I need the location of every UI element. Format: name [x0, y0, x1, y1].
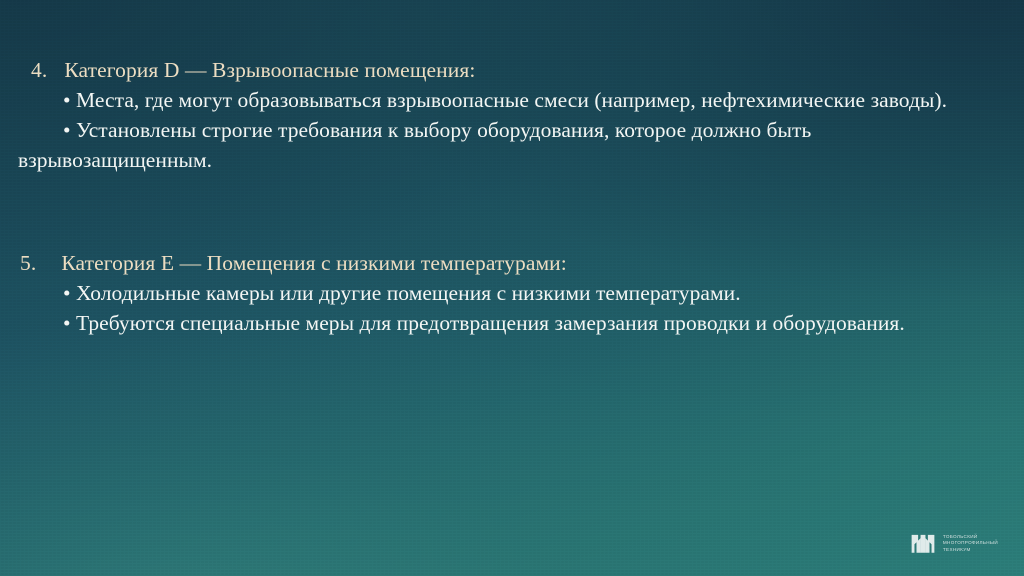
bullet-4-2: • Установлены строгие требования к выбор…: [18, 115, 973, 175]
presentation-slide: 4.Категория D — Взрывоопасные помещения:…: [0, 0, 1024, 576]
logo-wordmark: ТОБОЛЬСКИЙ МНОГОПРОФИЛЬНЫЙ ТЕХНИКУМ: [943, 534, 998, 552]
heading-category-e: 5.Категория E — Помещения с низкими темп…: [18, 248, 998, 278]
heading-text-5: Категория E — Помещения с низкими темпер…: [61, 251, 567, 275]
logo-line-3: ТЕХНИКУМ: [943, 547, 998, 552]
bullet-5-1: • Холодильные камеры или другие помещени…: [18, 278, 973, 308]
heading-number-5: 5.: [20, 248, 36, 278]
bullet-5-2: • Требуются специальные меры для предотв…: [18, 308, 973, 338]
logo-line-1: ТОБОЛЬСКИЙ: [943, 534, 998, 539]
logo-line-2: МНОГОПРОФИЛЬНЫЙ: [943, 540, 998, 545]
institution-logo: ТОБОЛЬСКИЙ МНОГОПРОФИЛЬНЫЙ ТЕХНИКУМ: [910, 530, 998, 556]
heading-text-4: Категория D — Взрывоопасные помещения:: [64, 58, 475, 82]
content-block-category-d: 4.Категория D — Взрывоопасные помещения:…: [18, 55, 998, 175]
heading-number-4: 4.: [31, 55, 47, 85]
bullet-4-1: • Места, где могут образовываться взрыво…: [18, 85, 973, 115]
tm-monogram-icon: [910, 530, 936, 556]
content-block-category-e: 5.Категория E — Помещения с низкими темп…: [18, 248, 998, 338]
heading-category-d: 4.Категория D — Взрывоопасные помещения:: [18, 55, 998, 85]
